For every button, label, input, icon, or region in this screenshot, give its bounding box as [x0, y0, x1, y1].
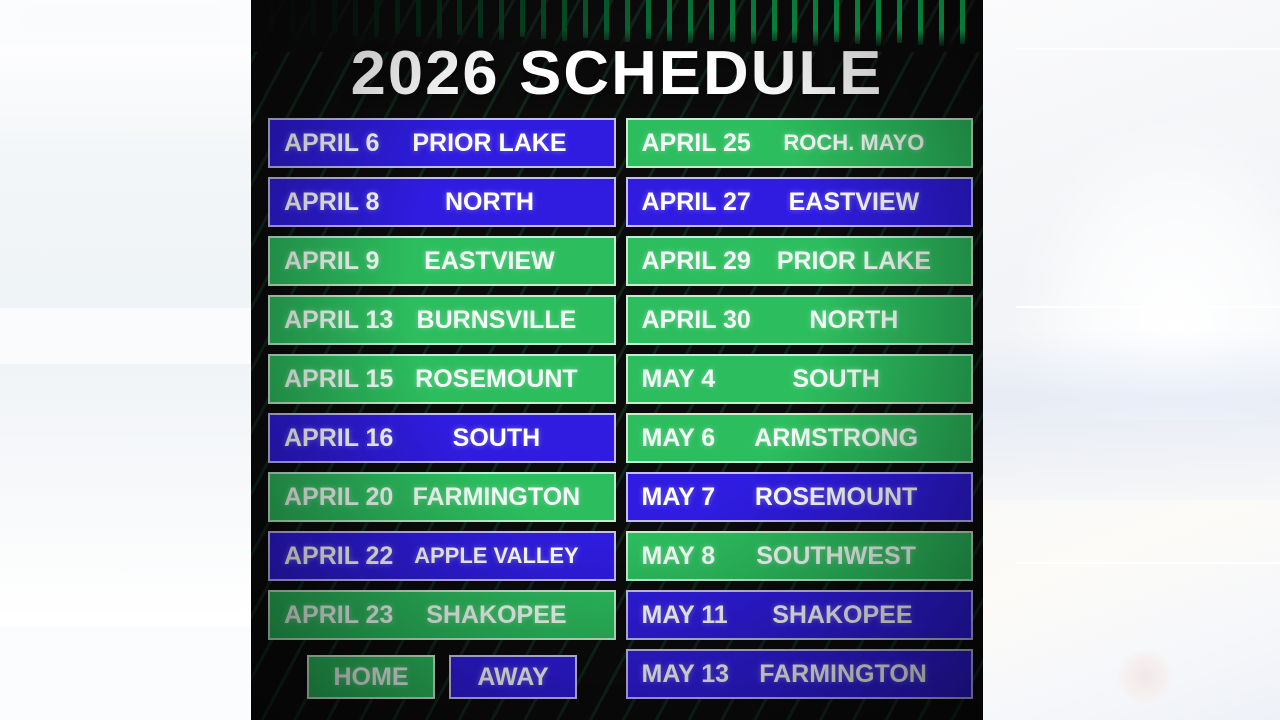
backdrop-right-blue-tint: [982, 330, 1280, 500]
game-opponent: SOUTHWEST: [715, 542, 957, 571]
game-opponent: SOUTH: [715, 365, 957, 394]
game-row[interactable]: MAY 4SOUTH: [626, 354, 974, 404]
game-date: APRIL 16: [284, 424, 393, 453]
equalizer-bar: [688, 0, 693, 43]
legend-chip-away[interactable]: AWAY: [449, 655, 577, 699]
schedule-column-left: APRIL 6PRIOR LAKEAPRIL 8NORTHAPRIL 9EAST…: [268, 118, 616, 699]
equalizer-bar: [667, 0, 672, 41]
game-row[interactable]: MAY 7ROSEMOUNT: [626, 472, 974, 522]
equalizer-bar: [625, 0, 630, 42]
game-row[interactable]: APRIL 13BURNSVILLE: [268, 295, 616, 345]
backdrop-left-band-bottom: [0, 626, 252, 720]
game-row[interactable]: APRIL 23SHAKOPEE: [268, 590, 616, 640]
equalizer-bar: [457, 0, 462, 35]
equalizer-bar: [583, 0, 588, 38]
backdrop-left-band-mid: [0, 308, 252, 364]
equalizer-bar: [353, 0, 358, 36]
game-row[interactable]: APRIL 25ROCH. MAYO: [626, 118, 974, 168]
game-row[interactable]: MAY 8SOUTHWEST: [626, 531, 974, 581]
game-date: APRIL 30: [642, 306, 751, 335]
equalizer-bar: [604, 0, 609, 40]
equalizer-bar: [520, 0, 525, 37]
game-opponent: SHAKOPEE: [393, 601, 599, 630]
equalizer-bar: [897, 0, 902, 43]
game-opponent: FARMINGTON: [393, 483, 599, 512]
game-opponent: PRIOR LAKE: [379, 129, 599, 158]
game-date: APRIL 8: [284, 188, 379, 217]
equalizer-bar: [730, 0, 735, 42]
game-opponent: ROCH. MAYO: [751, 130, 957, 156]
game-date: MAY 6: [642, 424, 716, 453]
game-date: APRIL 9: [284, 247, 379, 276]
game-date: APRIL 22: [284, 542, 393, 571]
screenshot-stage: LIVE TV SCOOP 2026 SCHEDULE APRIL 6PRIOR…: [0, 0, 1280, 720]
game-date: MAY 7: [642, 483, 716, 512]
game-row[interactable]: APRIL 27EASTVIEW: [626, 177, 974, 227]
game-row[interactable]: APRIL 8NORTH: [268, 177, 616, 227]
legend: HOMEAWAY: [268, 655, 616, 699]
game-opponent: PRIOR LAKE: [751, 247, 957, 276]
game-row[interactable]: APRIL 22APPLE VALLEY: [268, 531, 616, 581]
equalizer-bar: [562, 0, 567, 41]
game-row[interactable]: APRIL 20FARMINGTON: [268, 472, 616, 522]
equalizer-bar: [792, 0, 797, 43]
backdrop-right-divider-mid: [1016, 306, 1280, 308]
game-row[interactable]: APRIL 15ROSEMOUNT: [268, 354, 616, 404]
game-opponent: ROSEMOUNT: [715, 483, 957, 512]
game-date: MAY 4: [642, 365, 716, 394]
equalizer-bar: [960, 0, 965, 44]
game-row[interactable]: MAY 11SHAKOPEE: [626, 590, 974, 640]
equalizer-bar: [646, 0, 651, 39]
game-opponent: ROSEMOUNT: [393, 365, 599, 394]
game-opponent: SHAKOPEE: [728, 601, 957, 630]
schedule-grid: APRIL 6PRIOR LAKEAPRIL 8NORTHAPRIL 9EAST…: [268, 118, 973, 699]
game-row[interactable]: APRIL 29PRIOR LAKE: [626, 236, 974, 286]
game-date: APRIL 27: [642, 188, 751, 217]
game-date: APRIL 23: [284, 601, 393, 630]
equalizer-bar: [395, 0, 400, 34]
game-row[interactable]: MAY 6ARMSTRONG: [626, 413, 974, 463]
game-date: APRIL 25: [642, 129, 751, 158]
game-opponent: SOUTH: [393, 424, 599, 453]
equalizer-bar: [311, 0, 316, 37]
equalizer-bar: [772, 0, 777, 41]
game-date: APRIL 13: [284, 306, 393, 335]
legend-chip-home[interactable]: HOME: [307, 655, 435, 699]
game-date: APRIL 20: [284, 483, 393, 512]
game-date: MAY 11: [642, 601, 728, 630]
equalizer-bar: [939, 0, 944, 46]
game-opponent: APPLE VALLEY: [393, 543, 599, 569]
game-opponent: NORTH: [379, 188, 599, 217]
schedule-column-right: APRIL 25ROCH. MAYOAPRIL 27EASTVIEWAPRIL …: [626, 118, 974, 699]
backdrop-right-divider-top: [1016, 48, 1280, 50]
game-date: APRIL 29: [642, 247, 751, 276]
game-opponent: FARMINGTON: [729, 660, 957, 689]
equalizer-bar: [709, 0, 714, 40]
game-opponent: EASTVIEW: [751, 188, 957, 217]
equalizer-bar: [855, 0, 860, 44]
equalizer-bar: [834, 0, 839, 42]
game-row[interactable]: APRIL 9EASTVIEW: [268, 236, 616, 286]
page-title: 2026 SCHEDULE: [251, 42, 983, 106]
game-row[interactable]: APRIL 16SOUTH: [268, 413, 616, 463]
equalizer-bar: [751, 0, 756, 44]
game-row[interactable]: APRIL 6PRIOR LAKE: [268, 118, 616, 168]
equalizer-bar: [499, 0, 504, 40]
equalizer-bar: [918, 0, 923, 45]
backdrop-court-lines: [40, 197, 210, 266]
equalizer-bar: [478, 0, 483, 38]
game-opponent: NORTH: [751, 306, 957, 335]
equalizer-bar: [374, 0, 379, 38]
game-row[interactable]: MAY 13FARMINGTON: [626, 649, 974, 699]
equalizer-bar: [290, 0, 295, 35]
backdrop-right-divider-bottom: [1016, 562, 1280, 564]
equalizer-bar: [332, 0, 337, 33]
game-date: APRIL 15: [284, 365, 393, 394]
game-row[interactable]: APRIL 30NORTH: [626, 295, 974, 345]
backdrop-right-crest: [1118, 650, 1172, 704]
game-opponent: EASTVIEW: [379, 247, 599, 276]
equalizer-bar: [416, 0, 421, 37]
equalizer-bar: [541, 0, 546, 39]
game-opponent: BURNSVILLE: [393, 306, 599, 335]
game-date: MAY 8: [642, 542, 716, 571]
game-date: MAY 13: [642, 660, 730, 689]
game-opponent: ARMSTRONG: [715, 424, 957, 453]
schedule-graphic-card: 2026 SCHEDULE APRIL 6PRIOR LAKEAPRIL 8NO…: [251, 0, 983, 720]
equalizer-bar: [269, 0, 274, 32]
game-date: APRIL 6: [284, 129, 379, 158]
equalizer-bar: [437, 0, 442, 39]
backdrop-left-band-top: [0, 0, 252, 46]
